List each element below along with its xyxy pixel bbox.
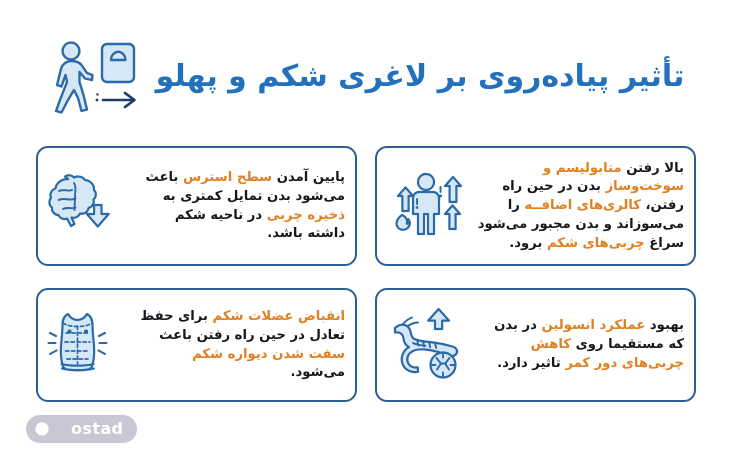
highlighted-phrase: سطح استرس	[183, 170, 272, 185]
plain-phrase: می‌شود.	[290, 365, 345, 380]
benefit-card-grid: بالا رفتن متابولیسم و سوخت‌وساز بدن در ح…	[36, 146, 696, 402]
card-text-abs: انقباض عضلات شکم برای حفظ تعادل در حین ر…	[136, 307, 345, 383]
highlighted-phrase: سفت شدن دیواره شکم	[192, 347, 345, 362]
highlighted-phrase: چربی‌های شکم	[547, 236, 645, 251]
brain-down-arrow-icon	[44, 163, 130, 249]
card-stress[interactable]: پایین آمدن سطح استرس باعث می‌شود بدن تما…	[36, 146, 357, 266]
plain-phrase: بهبود	[645, 318, 684, 333]
header: تأثیر پیاده‌روی بر لاغری شکم و پهلو	[0, 34, 730, 120]
card-insulin[interactable]: بهبود عملکرد انسولین در بدن که مستقیما ر…	[375, 288, 696, 402]
card-text-insulin: بهبود عملکرد انسولین در بدن که مستقیما ر…	[475, 316, 684, 373]
person-up-arrows-flame-icon	[383, 163, 469, 249]
plain-phrase: پایین آمدن	[272, 170, 345, 185]
plain-phrase: برود.	[509, 236, 547, 251]
highlighted-phrase: ذخیره چربی	[267, 208, 345, 223]
card-metabolism[interactable]: بالا رفتن متابولیسم و سوخت‌وساز بدن در ح…	[375, 146, 696, 266]
card-text-stress: پایین آمدن سطح استرس باعث می‌شود بدن تما…	[136, 168, 345, 244]
plain-phrase: تاثیر دارد.	[497, 356, 565, 371]
pancreas-up-arrow-icon	[383, 302, 469, 388]
ostad-logo-text: ostad	[71, 421, 123, 437]
highlighted-phrase: انقباض عضلات شکم	[213, 309, 345, 324]
plain-phrase: بالا رفتن	[622, 161, 684, 176]
card-abs[interactable]: انقباض عضلات شکم برای حفظ تعادل در حین ر…	[36, 288, 357, 402]
walking-person-scale-icon	[46, 38, 142, 116]
infographic-canvas: تأثیر پیاده‌روی بر لاغری شکم و پهلو	[0, 0, 730, 460]
ostad-circles-logo-icon	[34, 421, 64, 437]
ostad-logo[interactable]: ostad	[26, 415, 137, 443]
highlighted-phrase: عملکرد انسولین	[542, 318, 646, 333]
highlighted-phrase: کالری‌های اضافــه	[524, 198, 641, 213]
card-text-metabolism: بالا رفتن متابولیسم و سوخت‌وساز بدن در ح…	[475, 159, 684, 254]
page-title: تأثیر پیاده‌روی بر لاغری شکم و پهلو	[156, 60, 685, 95]
abdomen-muscles-icon	[44, 302, 130, 388]
